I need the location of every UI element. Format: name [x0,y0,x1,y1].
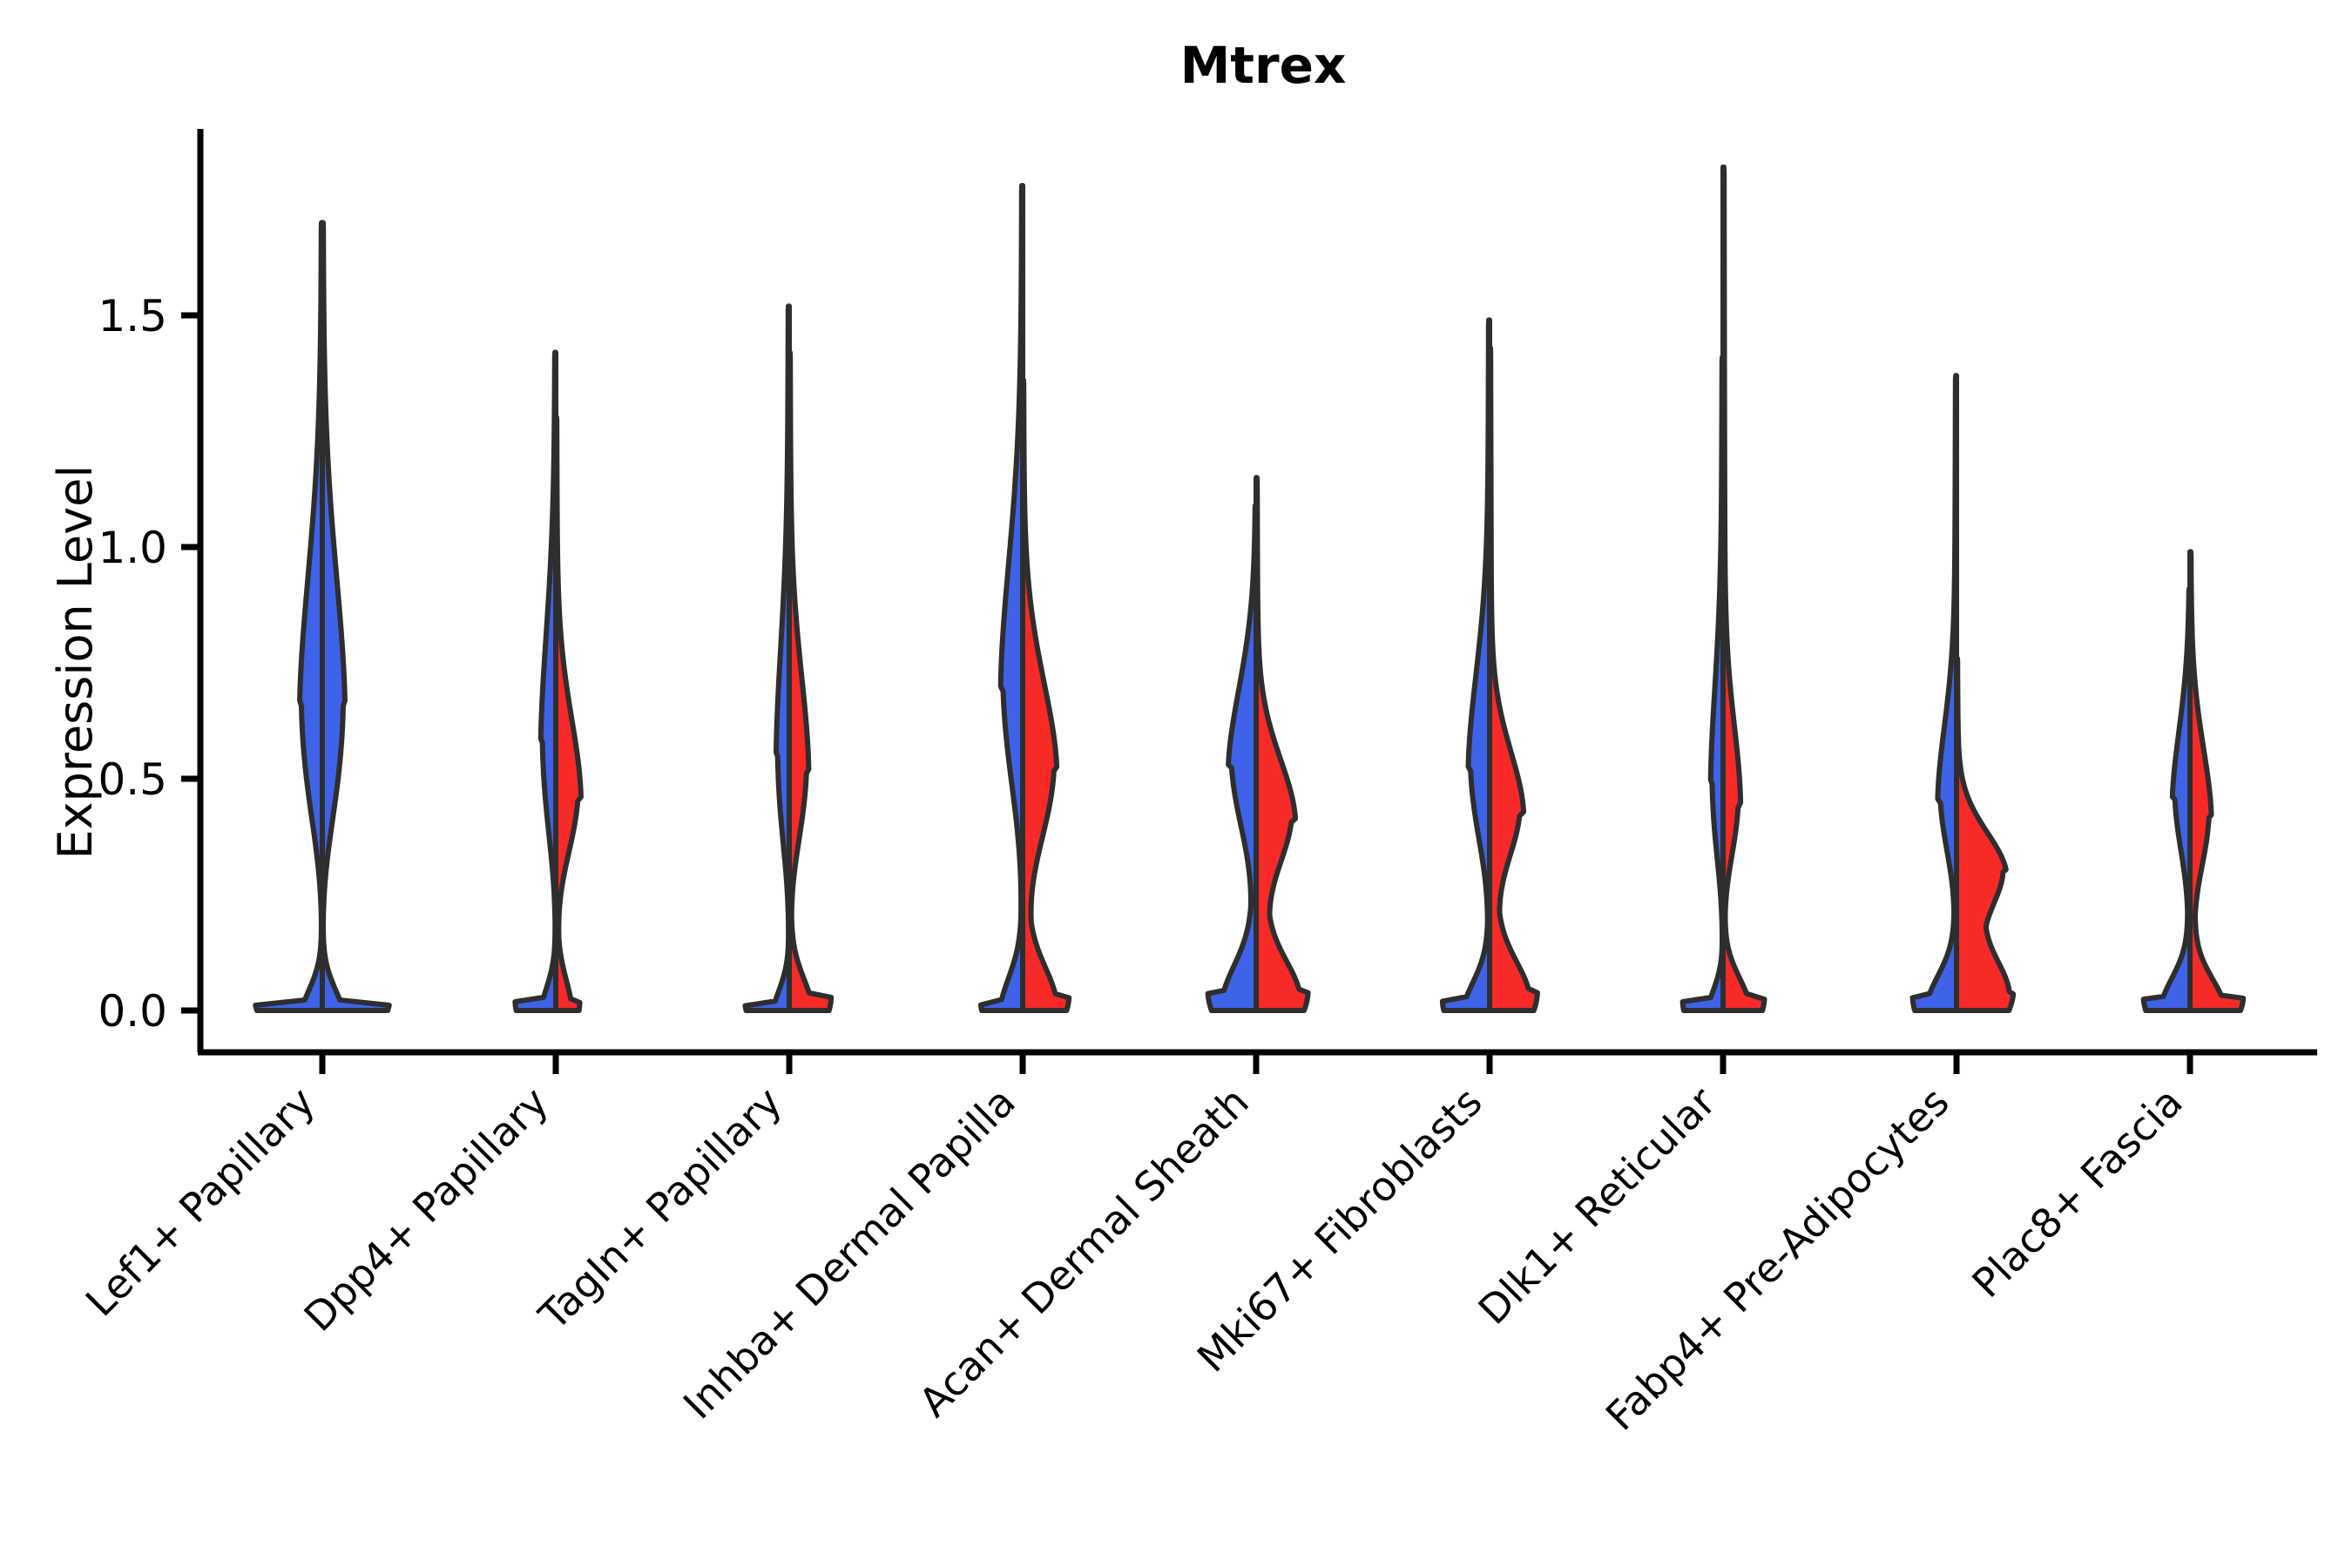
plot-canvas: Mtrex Expression Level 0.00.51.01.5 Lef1… [0,0,2352,1568]
violin-half-right[interactable] [1723,167,1765,1010]
violin-half-left[interactable] [745,306,789,1010]
violin-half-right[interactable] [2190,551,2243,1010]
y-tick-label: 1.5 [98,291,167,341]
y-axis-label: Expression Level [48,465,103,860]
violin-half-left[interactable] [1683,357,1723,1010]
violin-half-left[interactable] [255,223,322,1010]
violin-pair[interactable] [1443,320,1538,1010]
violin-pair[interactable] [2144,551,2244,1010]
x-tick-label: Dlk1+ Reticular [1470,1078,1725,1334]
x-tick-group: Lef1+ PapillaryDpp4+ PapillaryTagIn+ Pap… [77,1052,2192,1440]
x-tick-label: TagIn+ Papillary [530,1078,791,1340]
x-tick-label: Dpp4+ Papillary [295,1078,558,1341]
violin-half-left[interactable] [981,186,1023,1010]
violin-half-right[interactable] [1023,380,1069,1010]
violin-group [255,167,2243,1010]
violin-half-left[interactable] [2144,589,2190,1010]
violin-pair[interactable] [515,353,581,1010]
violin-pair[interactable] [1683,167,1765,1010]
violin-pair[interactable] [981,186,1069,1010]
page-title: Mtrex [1180,36,1347,95]
violin-pair[interactable] [1913,375,2014,1010]
violin-half-left[interactable] [1443,320,1490,1010]
violin-half-left[interactable] [515,353,556,1010]
violin-half-right[interactable] [789,353,831,1010]
violin-half-right[interactable] [556,417,581,1010]
violin-pair[interactable] [1208,477,1308,1010]
y-tick-label: 1.0 [98,523,167,573]
y-tick-label: 0.5 [98,754,167,805]
violin-half-right[interactable] [1957,659,2013,1010]
x-tick-label: Plac8+ Fascia [1963,1078,2191,1307]
violin-half-right[interactable] [1490,348,1538,1010]
violin-plot-figure: Mtrex Expression Level 0.00.51.01.5 Lef1… [0,0,2352,1568]
violin-half-left[interactable] [1913,375,1957,1010]
violin-pair[interactable] [255,223,389,1010]
violin-half-right[interactable] [322,223,389,1010]
y-tick-label: 0.0 [98,986,167,1037]
violin-pair[interactable] [745,306,831,1010]
violin-half-left[interactable] [1208,505,1256,1010]
violin-half-right[interactable] [1256,477,1308,1010]
y-tick-group: 0.00.51.01.5 [98,291,200,1037]
x-tick-label: Lef1+ Papillary [77,1078,324,1326]
